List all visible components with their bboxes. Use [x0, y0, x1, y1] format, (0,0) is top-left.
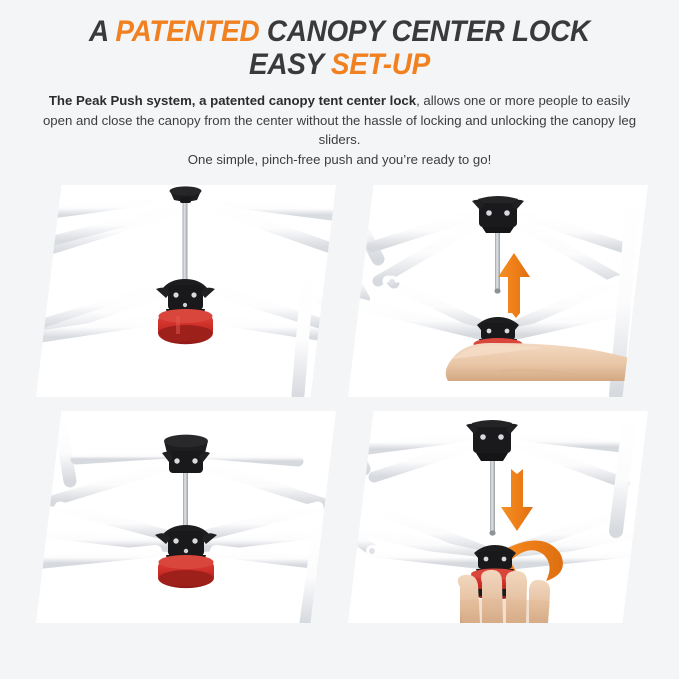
center-lock-hub — [156, 279, 215, 344]
page-subtitle: EASY SET-UP — [50, 49, 629, 80]
top-cap-icon — [162, 435, 210, 473]
center-lock-hub — [155, 525, 217, 588]
description-paragraph: The Peak Push system, a patented canopy … — [40, 91, 640, 169]
center-rod — [182, 201, 188, 288]
hand-pushing-hub-up — [348, 185, 648, 397]
description-closing-line: One simple, pinch-free push and you’re r… — [188, 152, 492, 167]
top-cap-icon — [170, 186, 202, 203]
title-highlight-patented: PATENTED — [115, 15, 259, 48]
page-title: A PATENTED CANOPY CENTER LOCK — [50, 16, 629, 47]
panel-top-right — [348, 185, 648, 397]
panel-bottom-right — [348, 411, 648, 623]
panel-grid — [0, 183, 679, 653]
title-prefix: A — [89, 15, 115, 48]
canopy-open-rod-locked — [36, 411, 336, 623]
canopy-closed-rod-extended — [36, 185, 336, 397]
arrow-down-icon — [501, 469, 533, 531]
header: A PATENTED CANOPY CENTER LOCK EASY SET-U… — [0, 0, 679, 169]
center-rod — [494, 223, 500, 294]
subtitle-highlight-setup: SET-UP — [331, 48, 430, 81]
panel-top-left — [36, 185, 336, 397]
center-rod — [183, 469, 188, 531]
arrow-up-icon — [498, 253, 530, 318]
subtitle-prefix: EASY — [249, 48, 331, 81]
center-rod — [489, 455, 495, 536]
description-bold-lead: The Peak Push system, a patented canopy … — [49, 93, 416, 108]
panel-bottom-left — [36, 411, 336, 623]
top-lock-bracket — [466, 420, 518, 461]
title-suffix: CANOPY CENTER LOCK — [259, 15, 590, 48]
product-feature-graphic: A PATENTED CANOPY CENTER LOCK EASY SET-U… — [0, 0, 679, 679]
hand-releasing-hub-down — [348, 411, 648, 623]
